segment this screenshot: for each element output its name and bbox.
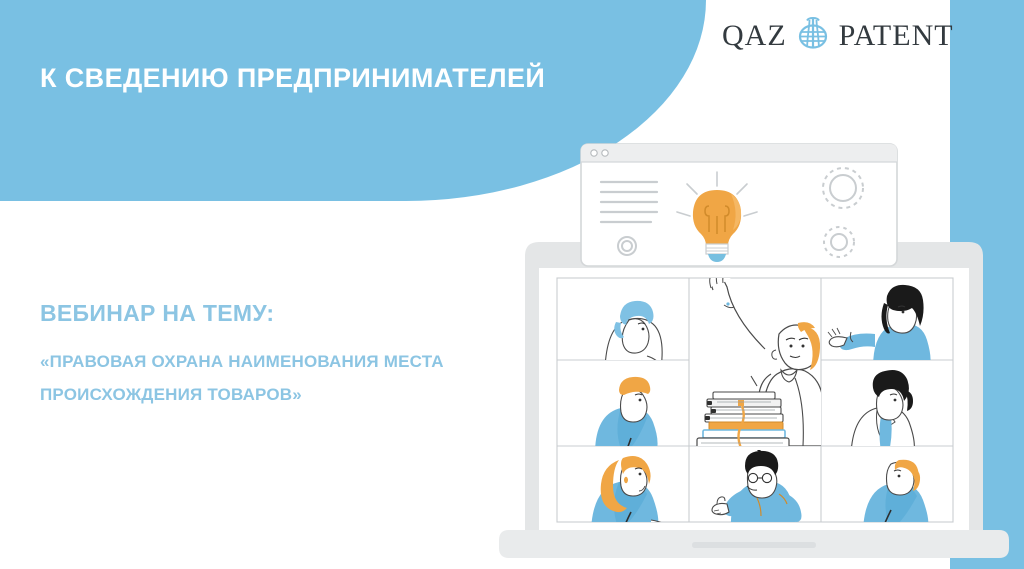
- page-headline: К СВЕДЕНИЮ ПРЕДПРИНИМАТЕЛЕЙ: [40, 63, 545, 94]
- logo-text-patent: PATENT: [839, 19, 954, 53]
- webinar-illustration: [495, 138, 1024, 558]
- webinar-topic: «ПРАВОВАЯ ОХРАНА НАИМЕНОВАНИЯ МЕСТА ПРОИ…: [40, 345, 540, 411]
- window-dot-1: [591, 150, 597, 156]
- qazpatent-logo: QAZ PATENT: [722, 14, 954, 57]
- webinar-label: ВЕБИНАР НА ТЕМУ:: [40, 300, 274, 327]
- video-call-grid: [547, 270, 961, 531]
- logo-text-qaz: QAZ: [722, 19, 787, 53]
- window-dot-2: [602, 150, 608, 156]
- qazpatent-dome-emblem-icon: [794, 14, 832, 57]
- poster-canvas: К СВЕДЕНИЮ ПРЕДПРИНИМАТЕЛЕЙ QAZ PATENT В…: [0, 0, 1024, 569]
- idea-browser-window: [581, 144, 897, 266]
